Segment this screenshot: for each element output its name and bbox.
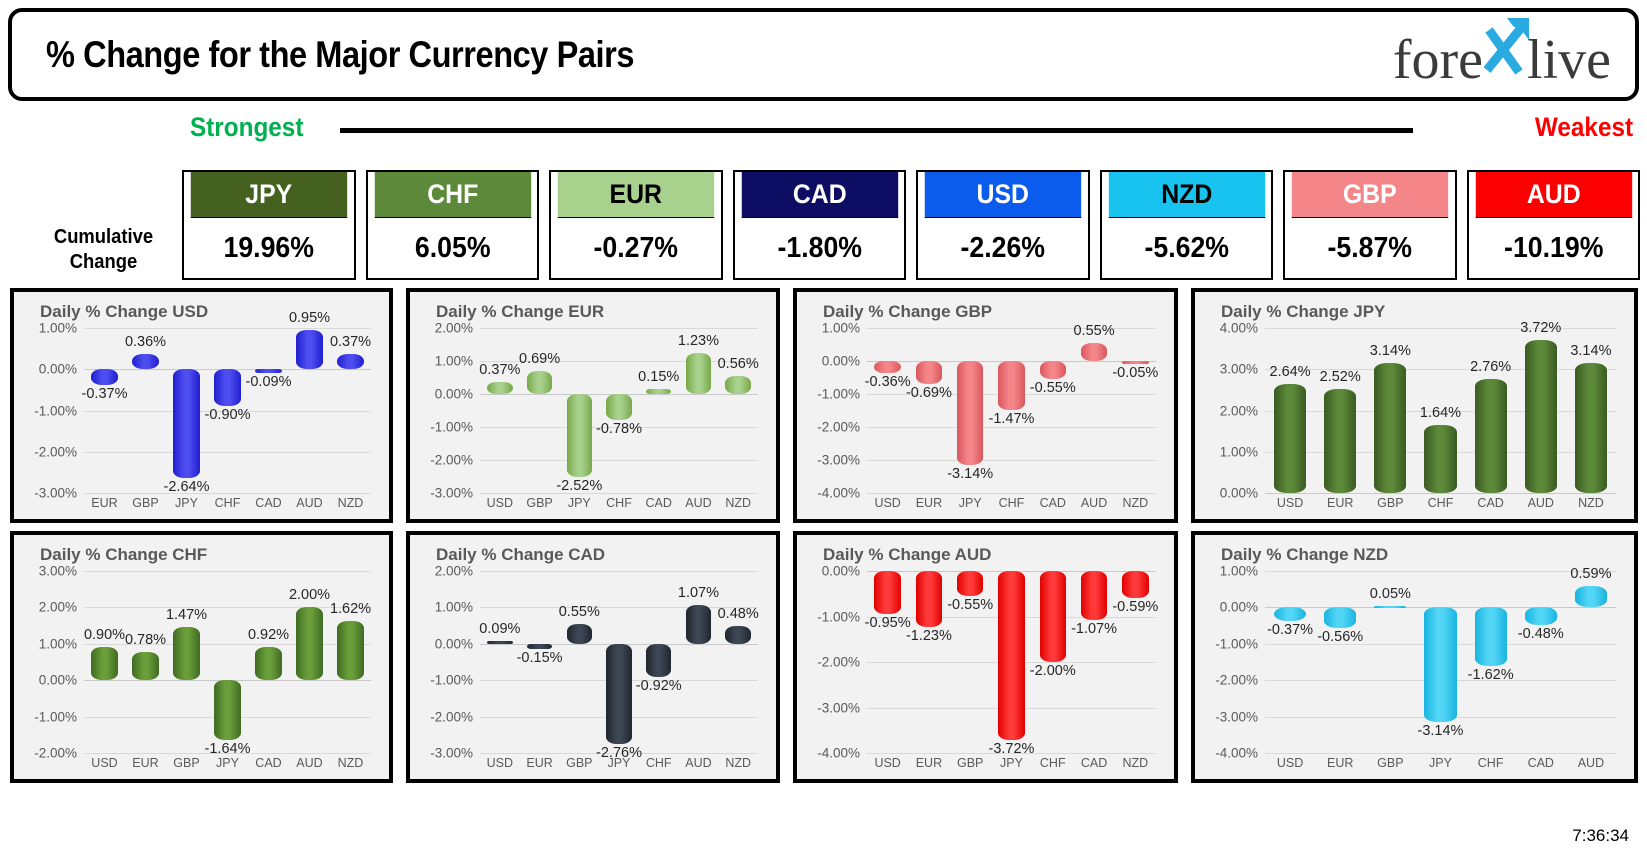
chart-bar	[725, 626, 750, 643]
chart-bar-value-label: 0.09%	[479, 621, 520, 637]
chart-y-tick-label: -2.00%	[430, 453, 480, 468]
chart-bar-value-label: -0.37%	[82, 386, 128, 402]
timestamp: 7:36:34	[1572, 826, 1629, 846]
chart-card-jpy: Daily % Change JPY4.00%3.00%2.00%1.00%0.…	[1191, 288, 1638, 523]
chart-bar	[1475, 607, 1507, 666]
currency-card-nzd: NZD-5.62%	[1100, 170, 1274, 280]
chart-x-tick-label: NZD	[330, 496, 371, 510]
chart-bars: -0.95%-1.23%-0.55%-3.72%-2.00%-1.07%-0.5…	[867, 571, 1156, 753]
chart-x-tick-label: USD	[867, 496, 908, 510]
chart-y-tick-label: 1.00%	[822, 321, 867, 336]
chart-bar-value-label: -0.56%	[1317, 629, 1363, 645]
chart-y-tick-label: 1.00%	[1220, 444, 1265, 459]
chart-bar-value-label: 3.72%	[1520, 320, 1561, 336]
chart-bar-item: 3.72%	[1516, 328, 1566, 493]
chart-bar-value-label: -2.00%	[1030, 663, 1076, 679]
chart-bar	[567, 394, 592, 477]
chart-x-tick-label: AUD	[289, 496, 330, 510]
rank-scale: Strongest Weakest	[0, 110, 1647, 150]
chart-x-tick-label: USD	[867, 756, 908, 770]
chart-bar-item: 0.56%	[718, 328, 758, 493]
chart-y-tick-label: 3.00%	[1220, 362, 1265, 377]
currency-card-value: -2.26%	[925, 218, 1081, 278]
chart-bar	[1274, 607, 1306, 620]
chart-bar-value-label: -1.64%	[205, 741, 251, 757]
chart-x-tick-label: NZD	[1566, 496, 1616, 510]
chart-bar	[1374, 363, 1406, 493]
chart-y-tick-label: -2.00%	[817, 655, 867, 670]
chart-x-tick-label: USD	[480, 756, 520, 770]
chart-x-tick-label: EUR	[1315, 756, 1365, 770]
chart-bar	[173, 369, 199, 478]
cumulative-change-cards: JPY19.96%CHF6.05%EUR-0.27%CAD-1.80%USD-2…	[182, 170, 1640, 280]
rank-scale-line	[340, 128, 1413, 133]
chart-bar	[1525, 340, 1557, 493]
chart-bar-value-label: 0.37%	[479, 362, 520, 378]
chart-bar-value-label: 0.55%	[1073, 323, 1114, 339]
chart-bars: 2.64%2.52%3.14%1.64%2.76%3.72%3.14%	[1265, 328, 1616, 493]
chart-bar-value-label: 0.48%	[718, 606, 759, 622]
chart-bar	[1081, 571, 1107, 620]
chart-plot-area: 0.00%-1.00%-2.00%-3.00%-4.00%-0.95%-1.23…	[867, 571, 1156, 753]
chart-card-cad: Daily % Change CAD2.00%1.00%0.00%-1.00%-…	[406, 531, 780, 783]
page-header: % Change for the Major Currency Pairs fo…	[8, 8, 1639, 101]
chart-card-aud: Daily % Change AUD0.00%-1.00%-2.00%-3.00…	[793, 531, 1178, 783]
chart-y-tick-label: -4.00%	[1215, 746, 1265, 761]
chart-y-tick-label: 1.00%	[435, 354, 480, 369]
chart-bar-item: -0.56%	[1315, 571, 1365, 753]
chart-bar-value-label: -0.36%	[865, 374, 911, 390]
chart-x-tick-label: AUD	[1516, 496, 1566, 510]
chart-bar-item: -0.36%	[867, 328, 908, 493]
chart-y-tick-label: -1.00%	[817, 609, 867, 624]
chart-bar-item: -0.59%	[1115, 571, 1156, 753]
chart-bar	[1424, 425, 1456, 493]
chart-bar	[487, 382, 512, 394]
chart-x-tick-label: USD	[480, 496, 520, 510]
chart-x-tick-label: EUR	[908, 496, 949, 510]
chart-bar-item: 0.36%	[125, 328, 166, 493]
chart-x-tick-label: CHF	[991, 496, 1032, 510]
chart-x-tick-label: JPY	[1415, 756, 1465, 770]
chart-x-tick-label: CAD	[1073, 756, 1114, 770]
chart-bar-value-label: -0.48%	[1518, 626, 1564, 642]
chart-title: Daily % Change GBP	[823, 302, 1166, 322]
chart-x-tick-label: GBP	[166, 756, 207, 770]
chart-bar-item: -0.90%	[207, 328, 248, 493]
chart-bar-value-label: -1.07%	[1071, 621, 1117, 637]
currency-card-code: NZD	[1108, 172, 1264, 218]
chart-plot-area: 1.00%0.00%-1.00%-2.00%-3.00%-0.37%0.36%-…	[84, 328, 371, 493]
chart-bar-value-label: -1.23%	[906, 628, 952, 644]
chart-bar-item: -1.64%	[207, 571, 248, 753]
chart-bar	[214, 369, 240, 406]
chart-bar-value-label: 1.23%	[678, 333, 719, 349]
chart-y-tick-label: 0.00%	[39, 673, 84, 688]
chart-bar-item: 0.15%	[639, 328, 679, 493]
chart-title: Daily % Change NZD	[1221, 545, 1626, 565]
chart-bar-item: -0.78%	[599, 328, 639, 493]
chart-bar-value-label: 1.64%	[1420, 405, 1461, 421]
chart-bar-item: -3.14%	[1415, 571, 1465, 753]
currency-card-code: JPY	[191, 172, 347, 218]
chart-card-gbp: Daily % Change GBP1.00%0.00%-1.00%-2.00%…	[793, 288, 1178, 523]
chart-bar-value-label: -1.62%	[1468, 667, 1514, 683]
chart-bar	[1081, 343, 1107, 361]
chart-y-tick-label: -1.00%	[34, 403, 84, 418]
chart-bar-value-label: 2.76%	[1470, 359, 1511, 375]
chart-bar-item: -0.15%	[520, 571, 560, 753]
chart-bar-value-label: -0.78%	[596, 421, 642, 437]
chart-bar-value-label: 0.95%	[289, 310, 330, 326]
chart-x-axis: USDEURGBPCHFCADAUDNZD	[1265, 496, 1616, 510]
chart-bar	[91, 369, 117, 384]
chart-bar	[1525, 607, 1557, 624]
chart-bar-item: -2.00%	[1032, 571, 1073, 753]
chart-x-tick-label: EUR	[125, 756, 166, 770]
chart-bar-value-label: 3.14%	[1370, 343, 1411, 359]
chart-x-tick-label: NZD	[1115, 496, 1156, 510]
currency-card-aud: AUD-10.19%	[1467, 170, 1641, 280]
chart-x-tick-label: AUD	[679, 496, 719, 510]
chart-x-tick-label: EUR	[520, 756, 560, 770]
chart-x-axis: USDEURJPYCHFCADAUDNZD	[867, 496, 1156, 510]
chart-card-usd: Daily % Change USD1.00%0.00%-1.00%-2.00%…	[10, 288, 393, 523]
chart-x-tick-label: CHF	[1032, 756, 1073, 770]
daily-change-chart-grid: Daily % Change USD1.00%0.00%-1.00%-2.00%…	[10, 288, 1638, 788]
currency-card-jpy: JPY19.96%	[182, 170, 356, 280]
chart-bar-value-label: 0.55%	[559, 604, 600, 620]
chart-x-axis: USDGBPJPYCHFCADAUDNZD	[480, 496, 758, 510]
chart-bar-item: 1.07%	[679, 571, 719, 753]
chart-bar-item: -1.47%	[991, 328, 1032, 493]
chart-bar-value-label: 3.14%	[1570, 343, 1611, 359]
logo-text-fore: fore	[1393, 32, 1483, 88]
chart-bar	[1324, 389, 1356, 493]
chart-bar	[998, 361, 1024, 410]
chart-bar	[1122, 361, 1148, 364]
chart-bar	[1122, 571, 1148, 598]
chart-bar-item: -0.48%	[1516, 571, 1566, 753]
chart-bar-item: 0.59%	[1566, 571, 1616, 753]
chart-y-tick-label: -2.00%	[1215, 673, 1265, 688]
chart-x-tick-label: USD	[84, 756, 125, 770]
chart-x-tick-label: CHF	[207, 496, 248, 510]
chart-bar-item: -0.69%	[908, 328, 949, 493]
chart-plot-area: 3.00%2.00%1.00%0.00%-1.00%-2.00%0.90%0.7…	[84, 571, 371, 753]
chart-bar	[916, 361, 942, 384]
chart-bar	[527, 644, 552, 649]
chart-bar-item: 0.37%	[480, 328, 520, 493]
chart-bar-item: -2.52%	[559, 328, 599, 493]
chart-bar	[91, 647, 117, 680]
chart-x-tick-label: GBP	[1365, 496, 1415, 510]
chart-bar	[132, 354, 158, 369]
chart-bar-item: 1.64%	[1415, 328, 1465, 493]
chart-bar-item: -0.55%	[950, 571, 991, 753]
chart-bar	[214, 680, 240, 740]
chart-y-tick-label: 2.00%	[1220, 403, 1265, 418]
currency-card-gbp: GBP-5.87%	[1283, 170, 1457, 280]
chart-x-tick-label: CHF	[1466, 756, 1516, 770]
chart-bar-item: -0.55%	[1032, 328, 1073, 493]
currency-card-eur: EUR-0.27%	[549, 170, 723, 280]
chart-y-tick-label: -3.00%	[1215, 709, 1265, 724]
chart-y-tick-label: -3.00%	[34, 486, 84, 501]
chart-y-tick-label: -1.00%	[430, 673, 480, 688]
chart-gridline	[867, 493, 1156, 494]
chart-card-chf: Daily % Change CHF3.00%2.00%1.00%0.00%-1…	[10, 531, 393, 783]
chart-x-axis: EURGBPJPYCHFCADAUDNZD	[84, 496, 371, 510]
chart-bar	[646, 644, 671, 677]
chart-bar-item: -2.64%	[166, 328, 207, 493]
chart-bar	[296, 607, 322, 680]
chart-bar-item: -0.09%	[248, 328, 289, 493]
chart-bar-item: 0.55%	[559, 571, 599, 753]
chart-bar-value-label: -0.37%	[1267, 622, 1313, 638]
chart-bar	[686, 605, 711, 644]
chart-x-tick-label: EUR	[1315, 496, 1365, 510]
currency-card-value: -1.80%	[741, 218, 897, 278]
chart-bar	[874, 361, 900, 373]
chart-bar-value-label: 0.15%	[638, 369, 679, 385]
chart-title: Daily % Change AUD	[823, 545, 1166, 565]
chart-plot-area: 4.00%3.00%2.00%1.00%0.00%2.64%2.52%3.14%…	[1265, 328, 1616, 493]
chart-y-tick-label: -2.00%	[430, 709, 480, 724]
cumulative-label-line1: Cumulative	[32, 225, 175, 250]
chart-gridline	[1265, 753, 1616, 754]
chart-bar-value-label: -0.92%	[636, 678, 682, 694]
chart-bar	[998, 571, 1024, 740]
strongest-label: Strongest	[190, 112, 303, 143]
chart-y-tick-label: -1.00%	[34, 709, 84, 724]
currency-card-chf: CHF6.05%	[366, 170, 540, 280]
chart-plot-area: 1.00%0.00%-1.00%-2.00%-3.00%-4.00%-0.37%…	[1265, 571, 1616, 753]
chart-bar-item: 2.00%	[289, 571, 330, 753]
chart-bar-value-label: 0.92%	[248, 627, 289, 643]
chart-x-tick-label: NZD	[718, 756, 758, 770]
chart-bar-item: 1.62%	[330, 571, 371, 753]
chart-bar-value-label: 1.47%	[166, 607, 207, 623]
currency-card-value: -5.87%	[1292, 218, 1448, 278]
chart-bar-item: -2.76%	[599, 571, 639, 753]
chart-x-tick-label: CHF	[599, 496, 639, 510]
chart-x-tick-label: EUR	[84, 496, 125, 510]
chart-bar-value-label: 1.07%	[678, 585, 719, 601]
chart-bar-value-label: 2.64%	[1270, 364, 1311, 380]
chart-bar-item: 1.23%	[679, 328, 719, 493]
chart-bar-value-label: -3.72%	[989, 741, 1035, 757]
chart-bar	[255, 369, 281, 373]
chart-bar-value-label: 2.52%	[1320, 369, 1361, 385]
chart-y-tick-label: -3.00%	[817, 453, 867, 468]
chart-y-tick-label: -1.00%	[1215, 636, 1265, 651]
currency-card-code: EUR	[558, 172, 714, 218]
chart-bar-item: 0.90%	[84, 571, 125, 753]
chart-bar	[957, 571, 983, 596]
currency-card-value: -10.19%	[1475, 218, 1631, 278]
chart-bar-value-label: -3.14%	[1418, 723, 1464, 739]
chart-bar	[1040, 361, 1066, 379]
chart-y-tick-label: 1.00%	[39, 321, 84, 336]
chart-x-tick-label: JPY	[991, 756, 1032, 770]
chart-bar-item: 0.05%	[1365, 571, 1415, 753]
chart-bar-value-label: -0.69%	[906, 385, 952, 401]
chart-y-tick-label: -1.00%	[817, 387, 867, 402]
chart-bar-value-label: -2.52%	[556, 478, 602, 494]
chart-y-tick-label: -4.00%	[817, 746, 867, 761]
chart-bar-value-label: -1.47%	[989, 411, 1035, 427]
chart-x-tick-label: USD	[1265, 756, 1315, 770]
chart-bar	[527, 371, 552, 394]
chart-bar-value-label: 2.00%	[289, 587, 330, 603]
chart-bar	[874, 571, 900, 614]
chart-y-tick-label: 0.00%	[435, 636, 480, 651]
chart-bar-item: 2.64%	[1265, 328, 1315, 493]
forexlive-logo: fore live	[1393, 22, 1611, 88]
chart-bars: 0.90%0.78%1.47%-1.64%0.92%2.00%1.62%	[84, 571, 371, 753]
chart-bar-value-label: 1.62%	[330, 601, 371, 617]
chart-x-axis: USDEURGBPJPYCADAUDNZD	[84, 756, 371, 770]
chart-bar-item: 1.47%	[166, 571, 207, 753]
chart-plot-area: 2.00%1.00%0.00%-1.00%-2.00%-3.00%0.09%-0…	[480, 571, 758, 753]
chart-x-tick-label: CAD	[639, 496, 679, 510]
chart-x-tick-label: NZD	[330, 756, 371, 770]
currency-card-value: -0.27%	[558, 218, 714, 278]
chart-bar	[957, 361, 983, 465]
chart-bar-item: -0.05%	[1115, 328, 1156, 493]
chart-y-tick-label: -2.00%	[34, 444, 84, 459]
chart-bar-value-label: 0.69%	[519, 351, 560, 367]
chart-bar-value-label: -2.64%	[164, 479, 210, 495]
chart-x-tick-label: EUR	[908, 756, 949, 770]
chart-x-tick-label: JPY	[559, 496, 599, 510]
chart-title: Daily % Change CHF	[40, 545, 381, 565]
chart-x-tick-label: CAD	[1516, 756, 1566, 770]
chart-bar-value-label: 0.78%	[125, 632, 166, 648]
chart-bar-value-label: -0.05%	[1112, 365, 1158, 381]
chart-y-tick-label: 1.00%	[1220, 564, 1265, 579]
chart-bar-value-label: -0.95%	[865, 615, 911, 631]
chart-y-tick-label: 0.00%	[435, 387, 480, 402]
chart-x-tick-label: AUD	[679, 756, 719, 770]
chart-plot-area: 2.00%1.00%0.00%-1.00%-2.00%-3.00%0.37%0.…	[480, 328, 758, 493]
chart-gridline	[480, 493, 758, 494]
chart-bar-item: -1.23%	[908, 571, 949, 753]
chart-bar-item: -0.95%	[867, 571, 908, 753]
chart-bar-value-label: -0.55%	[947, 597, 993, 613]
chart-bar-item: 0.09%	[480, 571, 520, 753]
currency-card-code: CHF	[374, 172, 530, 218]
chart-bar-value-label: 0.56%	[718, 356, 759, 372]
chart-bar-item: 3.14%	[1365, 328, 1415, 493]
cumulative-change-label: Cumulative Change	[32, 225, 175, 275]
chart-bars: -0.37%-0.56%0.05%-3.14%-1.62%-0.48%0.59%	[1265, 571, 1616, 753]
chart-title: Daily % Change JPY	[1221, 302, 1626, 322]
chart-bar	[725, 376, 750, 394]
chart-bar	[1374, 606, 1406, 609]
chart-bar	[916, 571, 942, 627]
chart-x-tick-label: JPY	[166, 496, 207, 510]
chart-bar-value-label: -0.59%	[1112, 599, 1158, 615]
chart-bar-item: 0.37%	[330, 328, 371, 493]
chart-y-tick-label: 0.00%	[39, 362, 84, 377]
chart-plot-area: 1.00%0.00%-1.00%-2.00%-3.00%-4.00%-0.36%…	[867, 328, 1156, 493]
chart-x-tick-label: AUD	[1073, 496, 1114, 510]
chart-bar-item: 0.92%	[248, 571, 289, 753]
chart-x-tick-label: AUD	[289, 756, 330, 770]
chart-card-eur: Daily % Change EUR2.00%1.00%0.00%-1.00%-…	[406, 288, 780, 523]
chart-y-tick-label: 2.00%	[435, 321, 480, 336]
chart-bar	[606, 394, 631, 420]
currency-card-cad: CAD-1.80%	[733, 170, 907, 280]
chart-bars: -0.37%0.36%-2.64%-0.90%-0.09%0.95%0.37%	[84, 328, 371, 493]
chart-title: Daily % Change EUR	[436, 302, 768, 322]
chart-bar	[1475, 379, 1507, 493]
chart-bar-item: -3.14%	[950, 328, 991, 493]
chart-bar	[337, 354, 363, 369]
chart-bar-value-label: 0.59%	[1570, 566, 1611, 582]
chart-bar-value-label: -3.14%	[947, 466, 993, 482]
chart-x-tick-label: CHF	[1415, 496, 1465, 510]
chart-y-tick-label: 0.00%	[822, 354, 867, 369]
chart-bar-value-label: -2.76%	[596, 745, 642, 761]
chart-bar-item: 3.14%	[1566, 328, 1616, 493]
chart-x-axis: USDEURGBPJPYCHFCADAUD	[1265, 756, 1616, 770]
chart-y-tick-label: 1.00%	[435, 600, 480, 615]
currency-card-code: USD	[925, 172, 1081, 218]
chart-x-tick-label: JPY	[950, 496, 991, 510]
chart-x-tick-label: GBP	[125, 496, 166, 510]
chart-bar	[487, 641, 512, 644]
chart-x-tick-label: GBP	[559, 756, 599, 770]
chart-x-tick-label: CAD	[248, 496, 289, 510]
chart-y-tick-label: 0.00%	[822, 564, 867, 579]
chart-bar-value-label: -0.55%	[1030, 380, 1076, 396]
chart-bar-item: 0.69%	[520, 328, 560, 493]
chart-x-tick-label: USD	[1265, 496, 1315, 510]
chart-gridline	[84, 493, 371, 494]
chart-bar	[606, 644, 631, 744]
chart-bar	[337, 621, 363, 680]
chart-bar-item: 2.52%	[1315, 328, 1365, 493]
chart-bar	[686, 353, 711, 394]
chart-bar	[1424, 607, 1456, 721]
chart-bar-item: 2.76%	[1466, 328, 1516, 493]
chart-bar	[132, 652, 158, 680]
chart-y-tick-label: 2.00%	[435, 564, 480, 579]
chart-x-tick-label: GBP	[520, 496, 560, 510]
chart-bar	[1040, 571, 1066, 662]
currency-card-code: GBP	[1292, 172, 1448, 218]
chart-bar-value-label: 0.05%	[1370, 586, 1411, 602]
chart-gridline	[1265, 493, 1616, 494]
chart-title: Daily % Change CAD	[436, 545, 768, 565]
chart-bar	[1575, 363, 1607, 493]
chart-y-tick-label: -2.00%	[817, 420, 867, 435]
chart-y-tick-label: 2.00%	[39, 600, 84, 615]
chart-bars: 0.09%-0.15%0.55%-2.76%-0.92%1.07%0.48%	[480, 571, 758, 753]
chart-y-tick-label: -3.00%	[430, 746, 480, 761]
chart-y-tick-label: 3.00%	[39, 564, 84, 579]
chart-bars: 0.37%0.69%-2.52%-0.78%0.15%1.23%0.56%	[480, 328, 758, 493]
chart-bar	[296, 330, 322, 369]
chart-x-tick-label: CHF	[639, 756, 679, 770]
chart-x-tick-label: AUD	[1566, 756, 1616, 770]
chart-bar-item: -3.72%	[991, 571, 1032, 753]
chart-bar-value-label: -0.90%	[205, 407, 251, 423]
chart-bar	[1324, 607, 1356, 627]
